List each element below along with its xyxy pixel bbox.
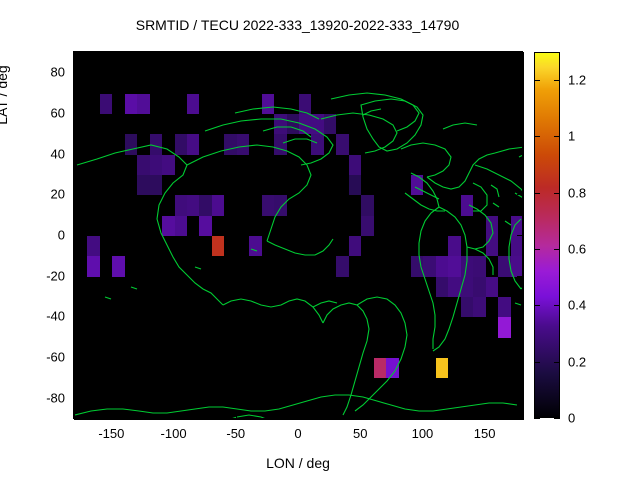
x-tick-label: 100 [412,426,434,441]
map-plot-area[interactable] [74,52,524,420]
axis-right [522,51,523,419]
colorbar-tick-label: 0.8 [568,185,586,200]
plot-figure: SRMTID / TECU 2022-333_13920-2022-333_14… [0,0,640,480]
x-tick-mark-top [236,52,237,57]
colorbar-tick-mark [534,362,540,363]
y-tick-mark-right [517,316,522,317]
y-tick-mark [74,194,79,195]
x-tick-mark [111,413,112,418]
y-tick-label: -20 [46,268,65,283]
y-tick-label: 60 [51,106,65,121]
colorbar-tick-mark [534,418,540,419]
colorbar-tick-label: 0 [568,411,575,426]
x-tick-mark [360,413,361,418]
colorbar-tick-label: 0.4 [568,298,586,313]
y-tick-label: 0 [58,228,65,243]
y-axis-label-wrap: LAT / deg [0,0,12,195]
plot-title: SRMTID / TECU 2022-333_13920-2022-333_14… [0,17,595,33]
y-tick-mark-right [517,72,522,73]
axis-bottom [73,418,523,419]
coastline-overlay [75,53,523,419]
y-tick-mark [74,357,79,358]
y-axis-label: LAT / deg [0,65,10,124]
y-tick-mark-right [517,113,522,114]
colorbar-tick-label: 1 [568,129,575,144]
x-tick-mark [298,413,299,418]
colorbar-tick-mark [534,193,540,194]
colorbar-tick-mark-right [554,193,560,194]
y-tick-label: 80 [51,65,65,80]
x-tick-mark-top [422,52,423,57]
y-tick-label: -60 [46,350,65,365]
x-tick-mark [485,413,486,418]
colorbar-tick-mark [534,80,540,81]
y-tick-mark [74,235,79,236]
y-tick-mark [74,276,79,277]
colorbar-tick-label: 0.2 [568,354,586,369]
y-tick-mark [74,154,79,155]
colorbar-tick-mark-right [554,305,560,306]
colorbar-tick-label: 1.2 [568,73,586,88]
colorbar-tick-mark [534,136,540,137]
x-tick-label: 50 [353,426,367,441]
y-tick-mark-right [517,154,522,155]
x-tick-mark-top [174,52,175,57]
x-tick-mark-top [298,52,299,57]
y-tick-mark [74,316,79,317]
y-tick-mark-right [517,235,522,236]
y-tick-label: 40 [51,146,65,161]
x-tick-mark-top [485,52,486,57]
y-tick-label: -80 [46,390,65,405]
x-axis-label: LON / deg [74,455,522,471]
x-tick-label: -50 [226,426,245,441]
x-tick-label: 0 [294,426,301,441]
colorbar-tick-mark [534,249,540,250]
y-tick-label: -40 [46,309,65,324]
colorbar-tick-mark-right [554,418,560,419]
colorbar-tick-mark [534,305,540,306]
y-tick-mark-right [517,398,522,399]
x-tick-label: -150 [98,426,124,441]
x-tick-mark-top [360,52,361,57]
x-tick-label: 150 [474,426,496,441]
colorbar-tick-mark-right [554,136,560,137]
x-tick-mark [422,413,423,418]
x-tick-mark-top [111,52,112,57]
colorbar-tick-mark-right [554,80,560,81]
colorbar-tick-mark-right [554,362,560,363]
x-tick-label: -100 [161,426,187,441]
y-tick-mark [74,398,79,399]
y-tick-mark [74,113,79,114]
colorbar-tick-mark-right [554,249,560,250]
colorbar-tick-label: 0.6 [568,242,586,257]
x-tick-mark [174,413,175,418]
y-tick-mark [74,72,79,73]
colorbar[interactable] [534,52,560,418]
y-tick-mark-right [517,357,522,358]
y-tick-mark-right [517,194,522,195]
y-tick-mark-right [517,276,522,277]
y-tick-label: 20 [51,187,65,202]
x-tick-mark [236,413,237,418]
